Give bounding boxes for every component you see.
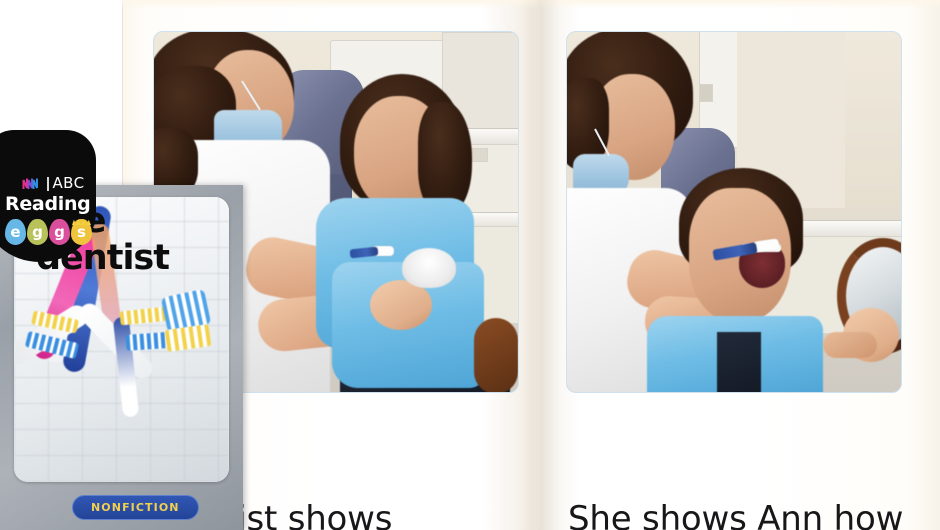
egg-letter-3: g: [49, 219, 70, 245]
right-page-photo: [566, 31, 902, 393]
right-caption-line-1: She shows Ann how: [568, 496, 903, 530]
egg-letter-2: g: [27, 219, 48, 245]
abc-wordmark: ABC: [53, 176, 85, 191]
right-page-caption: She shows Ann how to brush her teeth.: [568, 404, 903, 530]
logo-divider: [47, 177, 49, 191]
abc-swirl-icon: [22, 177, 43, 190]
screenshot-root: entist shows toothbrush. She shows Ann h…: [0, 0, 940, 530]
eggs-wordmark: e g g s: [5, 219, 92, 245]
page-top-tint: [122, 0, 940, 9]
abc-brand-row: ABC: [22, 176, 84, 191]
egg-letter-1: e: [5, 219, 26, 245]
reading-wordmark: Reading: [5, 195, 90, 214]
egg-letter-4: s: [71, 219, 92, 245]
nonfiction-badge: NONFICTION: [72, 495, 199, 520]
